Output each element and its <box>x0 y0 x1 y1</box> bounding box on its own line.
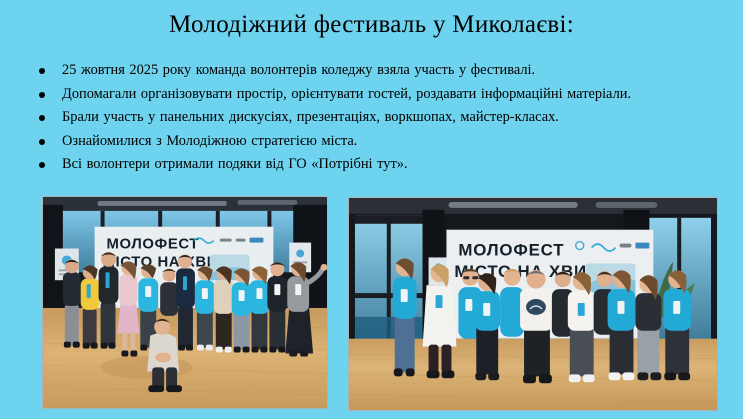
page-title: Молодіжний фестиваль у Миколаєві: <box>0 10 743 40</box>
list-item-label: Брали участь у панельних дискусіях, през… <box>62 106 714 129</box>
list-item: Всі волонтери отримали подяки від ГО «По… <box>34 153 714 176</box>
bullet-list: 25 жовтня 2025 року команда волонтерів к… <box>34 59 714 177</box>
list-item-label: Всі волонтери отримали подяки від ГО «По… <box>62 153 714 176</box>
svg-text:МОЛОФЕСТ: МОЛОФЕСТ <box>458 240 564 259</box>
photo-left-artwork: МОЛОФЕСТ МІСТО НА ХВИЛІ <box>43 197 327 408</box>
list-item-label: 25 жовтня 2025 року команда волонтерів к… <box>62 59 714 82</box>
group-photo-molofest-large-group: МОЛОФЕСТ МІСТО НА ХВИЛІ <box>42 196 328 409</box>
list-item: Брали участь у панельних дискусіях, през… <box>34 106 714 129</box>
svg-text:МОЛОФЕСТ: МОЛОФЕСТ <box>107 237 199 253</box>
list-item-label: Допомагали організовувати простір, орієн… <box>62 83 714 106</box>
list-item-label: Ознайомилися з Молодіжною стратегією міс… <box>62 130 714 153</box>
bullet-dot-icon <box>39 162 45 168</box>
group-photo-molofest-stage-group: МОЛОФЕСТ МІСТО НА ХВИЛІ <box>348 197 718 411</box>
list-item: 25 жовтня 2025 року команда волонтерів к… <box>34 59 714 82</box>
bullet-dot-icon <box>39 92 45 98</box>
bullet-dot-icon <box>39 68 45 74</box>
list-item: Ознайомилися з Молодіжною стратегією міс… <box>34 130 714 153</box>
slide-canvas: Молодіжний фестиваль у Миколаєві: 25 жов… <box>0 0 743 419</box>
bullet-dot-icon <box>39 115 45 121</box>
photo-right-artwork: МОЛОФЕСТ МІСТО НА ХВИЛІ <box>349 198 717 410</box>
bullet-dot-icon <box>39 139 45 145</box>
list-item: Допомагали організовувати простір, орієн… <box>34 83 714 106</box>
